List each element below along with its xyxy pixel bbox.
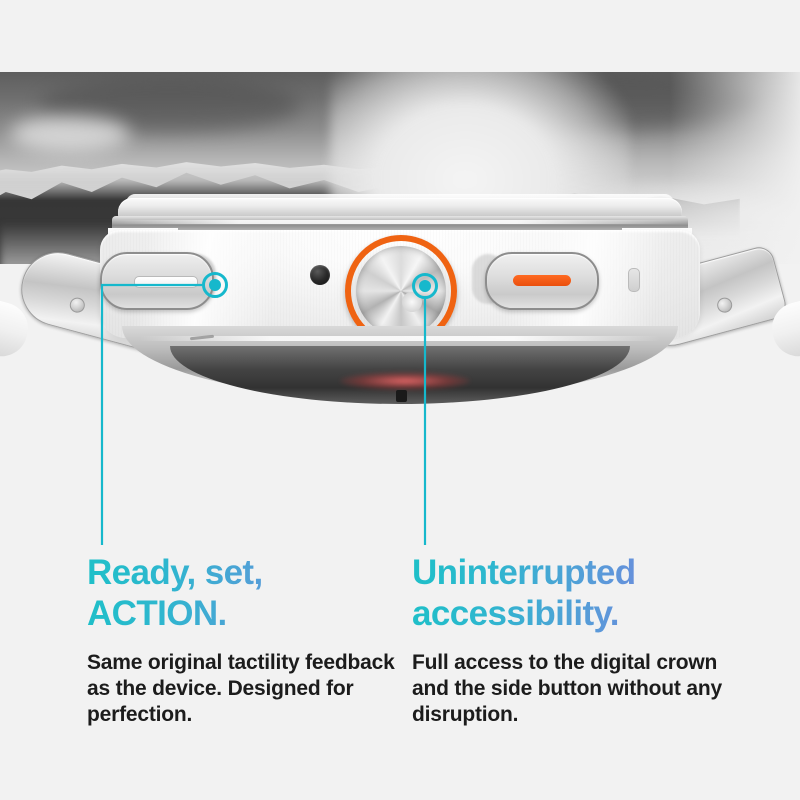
- feature-right-headline-line1: Uninterrupted: [412, 553, 636, 592]
- callout-dot-ring: [202, 272, 228, 298]
- cloud-light-1: [10, 116, 130, 152]
- action-button-slot: [134, 276, 198, 288]
- feature-left-headline: Ready, set,ACTION.: [87, 552, 407, 634]
- callout-dot-action-button[interactable]: [202, 272, 228, 298]
- side-button[interactable]: [485, 252, 599, 310]
- feature-block-right: Uninterruptedaccessibility. Full access …: [412, 552, 732, 728]
- heart-rate-sensor: [340, 372, 470, 390]
- microphone-port: [310, 265, 330, 285]
- feature-left-headline-line1: Ready, set,: [87, 553, 263, 592]
- case-metal-highlight: [112, 220, 688, 224]
- feature-block-left: Ready, set,ACTION. Same original tactili…: [87, 552, 407, 728]
- callout-dot-ring: [412, 273, 438, 299]
- side-button-orange-stripe: [513, 275, 571, 286]
- feature-right-headline: Uninterruptedaccessibility.: [412, 552, 732, 634]
- callout-dot-digital-crown[interactable]: [412, 273, 438, 299]
- smartwatch-side-profile: [0, 150, 800, 420]
- case-underside-highlight: [140, 336, 660, 341]
- feature-right-headline-line2: accessibility.: [412, 594, 619, 633]
- feature-left-headline-line2: ACTION.: [87, 594, 227, 633]
- feature-left-body: Same original tactility feedback as the …: [87, 650, 407, 728]
- speaker-port: [628, 268, 640, 292]
- sensor-contact: [396, 390, 407, 402]
- feature-right-body: Full access to the digital crown and the…: [412, 650, 732, 728]
- page-stage: Ready, set,ACTION. Same original tactili…: [0, 0, 800, 800]
- action-button[interactable]: [100, 252, 214, 310]
